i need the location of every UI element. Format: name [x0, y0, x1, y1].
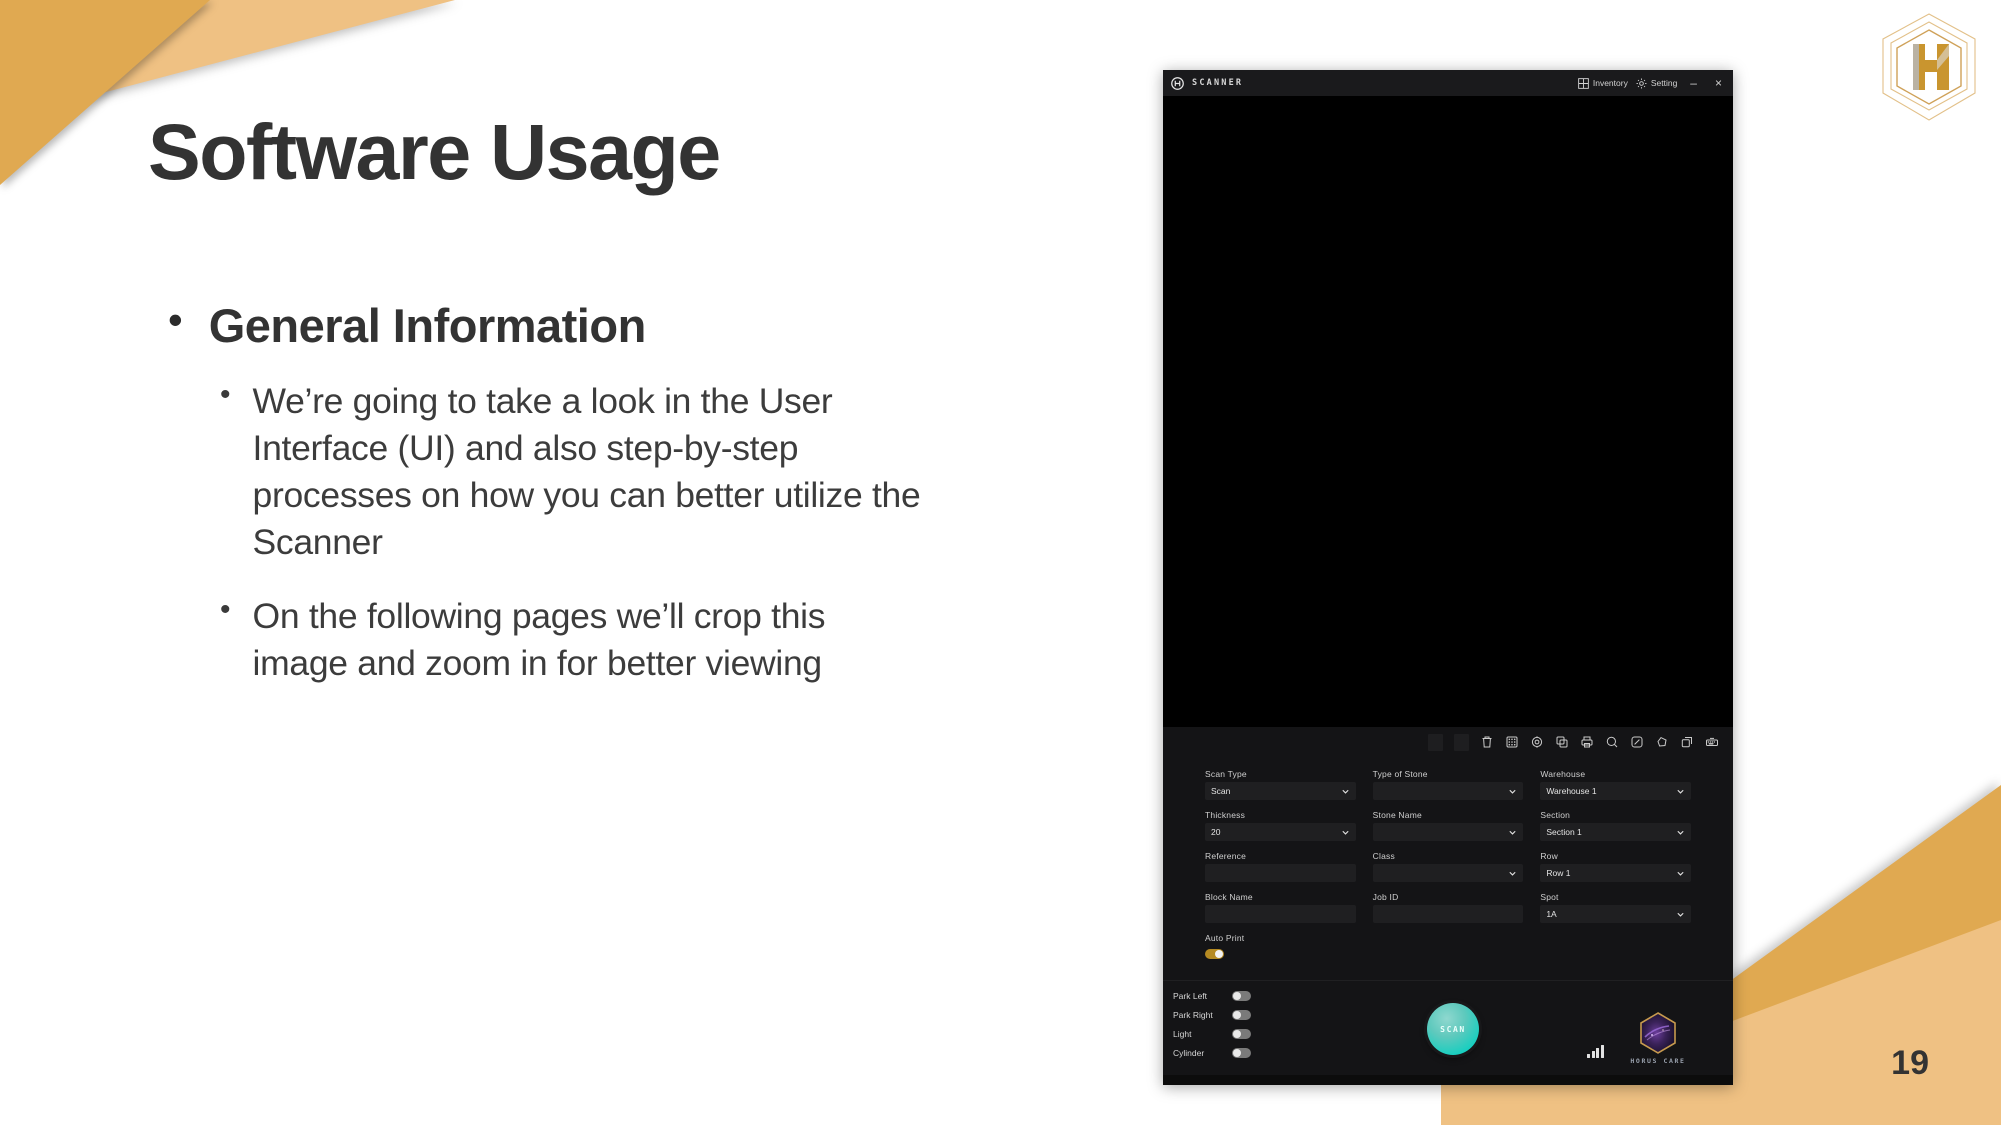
field-label: Warehouse [1540, 769, 1691, 779]
slide: Software Usage • General Information • W… [0, 0, 2001, 1125]
page-number: 19 [1891, 1044, 1929, 1083]
field-value: 1A [1546, 909, 1556, 919]
partner-brand-block: HORUS CARE [1583, 991, 1733, 1067]
scan-form-panel: Scan Type Scan Type of Stone Warehouse [1163, 757, 1733, 980]
toggle-label: Park Left [1173, 991, 1223, 1001]
field-label: Reference [1205, 851, 1356, 861]
class-select[interactable] [1373, 864, 1524, 882]
toggle-label: Light [1173, 1029, 1223, 1039]
field-stone-name: Stone Name [1373, 810, 1524, 841]
bullet-level1: • General Information [168, 300, 928, 352]
scan-button-area: SCAN [1323, 991, 1583, 1067]
inventory-button[interactable]: Inventory [1578, 78, 1628, 89]
signal-bars-icon [1587, 1045, 1604, 1058]
field-thickness: Thickness 20 [1205, 810, 1356, 841]
light-toggle[interactable] [1232, 1029, 1251, 1039]
chevron-down-icon [1676, 910, 1685, 919]
canvas-toolbar [1163, 727, 1733, 757]
setting-label: Setting [1651, 78, 1677, 88]
toggle-label: Park Right [1173, 1010, 1223, 1020]
field-value: Section 1 [1546, 827, 1581, 837]
chevron-down-icon [1508, 869, 1517, 878]
bullet-level2-text: On the following pages we’ll crop this i… [253, 593, 928, 687]
scan-form-grid: Scan Type Scan Type of Stone Warehouse [1205, 769, 1691, 929]
corner-decoration-top-left-light [0, 0, 455, 120]
chevron-down-icon [1341, 828, 1350, 837]
field-label: Block Name [1205, 892, 1356, 902]
scanner-app-window: SCANNER Inventory Sett [1163, 70, 1733, 1085]
chevron-down-icon [1676, 787, 1685, 796]
block-name-input[interactable] [1205, 905, 1356, 923]
spot-select[interactable]: 1A [1540, 905, 1691, 923]
chevron-down-icon [1508, 828, 1517, 837]
field-job-id: Job ID [1373, 892, 1524, 923]
cylinder-toggle[interactable] [1232, 1048, 1251, 1058]
field-label: Type of Stone [1373, 769, 1524, 779]
scan-type-select[interactable]: Scan [1205, 782, 1356, 800]
app-title-bar: SCANNER Inventory Sett [1163, 70, 1733, 96]
trash-icon[interactable] [1480, 735, 1494, 749]
park-left-toggle[interactable] [1232, 991, 1251, 1001]
bullet-level2: • On the following pages we’ll crop this… [220, 593, 928, 687]
partner-logo-text: HORUS CARE [1630, 1057, 1685, 1065]
minimize-button[interactable]: – [1685, 77, 1702, 89]
section-select[interactable]: Section 1 [1540, 823, 1691, 841]
keypad-grid-icon[interactable] [1505, 735, 1519, 749]
bullet-level2-text: We’re going to take a look in the User I… [253, 378, 928, 567]
grid-icon [1578, 78, 1589, 89]
toggle-label: Cylinder [1173, 1048, 1223, 1058]
polygon-shape-icon[interactable] [1655, 735, 1669, 749]
printer-icon[interactable] [1580, 735, 1594, 749]
field-value: Row 1 [1546, 868, 1570, 878]
bullet-marker: • [220, 593, 231, 628]
scan-button-label: SCAN [1440, 1025, 1466, 1034]
gear-icon [1636, 78, 1647, 89]
search-icon[interactable] [1605, 735, 1619, 749]
field-spot: Spot 1A [1540, 892, 1691, 923]
chevron-down-icon [1676, 869, 1685, 878]
toolbar-swatch[interactable] [1454, 734, 1469, 751]
job-id-input[interactable] [1373, 905, 1524, 923]
field-label: Job ID [1373, 892, 1524, 902]
toggle-row-park-right: Park Right [1173, 1010, 1323, 1020]
edit-square-icon[interactable] [1630, 735, 1644, 749]
field-value: 20 [1211, 827, 1220, 837]
warehouse-select[interactable]: Warehouse 1 [1540, 782, 1691, 800]
scan-canvas[interactable] [1163, 96, 1733, 727]
toggle-row-park-left: Park Left [1173, 991, 1323, 1001]
chevron-down-icon [1676, 828, 1685, 837]
field-label: Section [1540, 810, 1691, 820]
field-label: Scan Type [1205, 769, 1356, 779]
auto-print-toggle[interactable] [1205, 949, 1224, 959]
field-block-name: Block Name [1205, 892, 1356, 923]
thickness-select[interactable]: 20 [1205, 823, 1356, 841]
field-warehouse: Warehouse Warehouse 1 [1540, 769, 1691, 800]
copy-icon[interactable] [1555, 735, 1569, 749]
field-type-of-stone: Type of Stone [1373, 769, 1524, 800]
field-value: Warehouse 1 [1546, 786, 1596, 796]
horus-care-hexagon-icon [1638, 1011, 1678, 1055]
auto-print-label: Auto Print [1205, 933, 1691, 943]
duplicate-layers-icon[interactable] [1680, 735, 1694, 749]
setting-button[interactable]: Setting [1636, 78, 1677, 89]
close-button[interactable]: × [1710, 77, 1727, 89]
field-value: Scan [1211, 786, 1230, 796]
bullet-marker: • [220, 378, 231, 413]
bottom-control-panel: Park Left Park Right Light Cylinder [1163, 980, 1733, 1075]
bullet-list: • General Information • We’re going to t… [168, 300, 928, 713]
bullet-level1-text: General Information [209, 300, 646, 352]
toggle-row-light: Light [1173, 1029, 1323, 1039]
chevron-down-icon [1508, 787, 1517, 796]
chevron-down-icon [1341, 787, 1350, 796]
horus-h-hexagon-logo-icon [1875, 8, 1983, 128]
scan-button[interactable]: SCAN [1427, 1003, 1479, 1055]
type-of-stone-select[interactable] [1373, 782, 1524, 800]
auto-print-group: Auto Print [1205, 933, 1691, 964]
page-title: Software Usage [148, 112, 720, 191]
machine-toggles: Park Left Park Right Light Cylinder [1163, 991, 1323, 1067]
reference-input[interactable] [1205, 864, 1356, 882]
target-eye-icon[interactable] [1530, 735, 1544, 749]
inventory-label: Inventory [1593, 78, 1628, 88]
field-scan-type: Scan Type Scan [1205, 769, 1356, 800]
field-label: Spot [1540, 892, 1691, 902]
field-label: Thickness [1205, 810, 1356, 820]
bullet-level2: • We’re going to take a look in the User… [220, 378, 928, 567]
keyboard-icon[interactable] [1705, 735, 1719, 749]
field-section: Section Section 1 [1540, 810, 1691, 841]
field-label: Class [1373, 851, 1524, 861]
field-label: Stone Name [1373, 810, 1524, 820]
field-class: Class [1373, 851, 1524, 882]
bullet-marker: • [168, 300, 183, 340]
app-brand-name: SCANNER [1192, 78, 1243, 88]
row-select[interactable]: Row 1 [1540, 864, 1691, 882]
toggle-row-cylinder: Cylinder [1173, 1048, 1323, 1058]
toolbar-swatch[interactable] [1428, 734, 1443, 751]
field-row: Row Row 1 [1540, 851, 1691, 882]
field-reference: Reference [1205, 851, 1356, 882]
stone-name-select[interactable] [1373, 823, 1524, 841]
field-label: Row [1540, 851, 1691, 861]
scanner-hex-logo-icon [1171, 77, 1184, 90]
park-right-toggle[interactable] [1232, 1010, 1251, 1020]
